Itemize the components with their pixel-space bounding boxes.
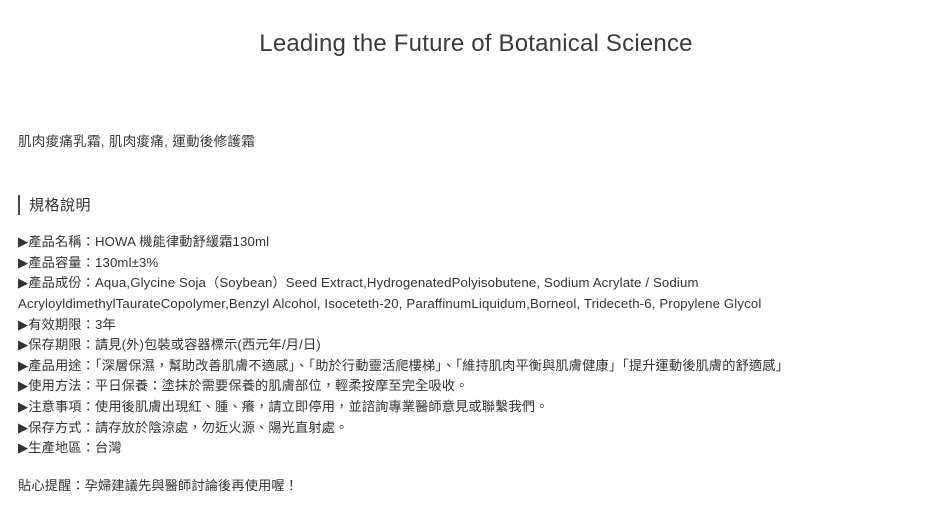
spec-item-text: ▶保存方式：請存放於陰涼處，勿近火源、陽光直射處。 [18,420,348,435]
spec-item-text: ▶有效期限：3年 [18,317,116,332]
list-item: ▶保存方式：請存放於陰涼處，勿近火源、陽光直射處。 [18,418,948,439]
spec-item-text: ▶保存期限：請見(外)包裝或容器標示(西元年/月/日) [18,337,321,352]
list-item: ▶產品名稱：HOWA 機能律動舒緩霜130ml [18,232,948,253]
pregnancy-reminder-note: 貼心提醒：孕婦建議先與醫師討論後再使用喔！ [18,476,948,497]
list-item: ▶生產地區：台灣 [18,438,948,459]
list-item: ▶注意事項：使用後肌膚出現紅、腫、癢，請立即停用，並諮詢專業醫師意見或聯繫我們。 [18,397,948,418]
accent-bar [18,195,20,215]
list-item: ▶產品用途：「深層保濕，幫助改善肌膚不適感」、「助於行動靈活爬樓梯」、「維持肌肉… [18,356,948,377]
spec-item-text: ▶產品名稱：HOWA 機能律動舒緩霜130ml [18,234,269,249]
spec-item-text: ▶生產地區：台灣 [18,440,122,455]
content-column: 肌肉痠痛乳霜, 肌肉痠痛, 運動後修護霜 規格說明 ▶產品名稱：HOWA 機能律… [18,88,948,496]
spec-list: ▶產品名稱：HOWA 機能律動舒緩霜130ml ▶產品容量：130ml±3% ▶… [18,232,948,459]
product-keywords: 肌肉痠痛乳霜, 肌肉痠痛, 運動後修護霜 [18,132,948,152]
spec-item-text: ▶產品用途：「深層保濕，幫助改善肌膚不適感」、「助於行動靈活爬樓梯」、「維持肌肉… [18,358,789,373]
spec-item-text: ▶使用方法：平日保養：塗抹於需要保養的肌膚部位，輕柔按摩至完全吸收。 [18,378,468,393]
list-item: ▶保存期限：請見(外)包裝或容器標示(西元年/月/日) [18,335,948,356]
list-item: ▶產品成份：Aqua,Glycine Soja（Soybean）Seed Ext… [18,273,948,314]
page-title: Leading the Future of Botanical Science [259,30,692,59]
spec-section-header: 規格說明 [18,194,948,216]
list-item: ▶有效期限：3年 [18,315,948,336]
spec-item-text: ▶注意事項：使用後肌膚出現紅、腫、癢，請立即停用，並諮詢專業醫師意見或聯繫我們。 [18,399,548,414]
list-item: ▶使用方法：平日保養：塗抹於需要保養的肌膚部位，輕柔按摩至完全吸收。 [18,376,948,397]
spec-section-title: 規格說明 [29,198,91,213]
list-item: ▶產品容量：130ml±3% [18,253,948,274]
hero-banner: Leading the Future of Botanical Science [0,0,952,88]
spec-item-text: ▶產品容量：130ml±3% [18,255,158,270]
product-spec-page: Leading the Future of Botanical Science … [0,0,952,511]
spec-item-text: ▶產品成份：Aqua,Glycine Soja（Soybean）Seed Ext… [18,275,761,311]
